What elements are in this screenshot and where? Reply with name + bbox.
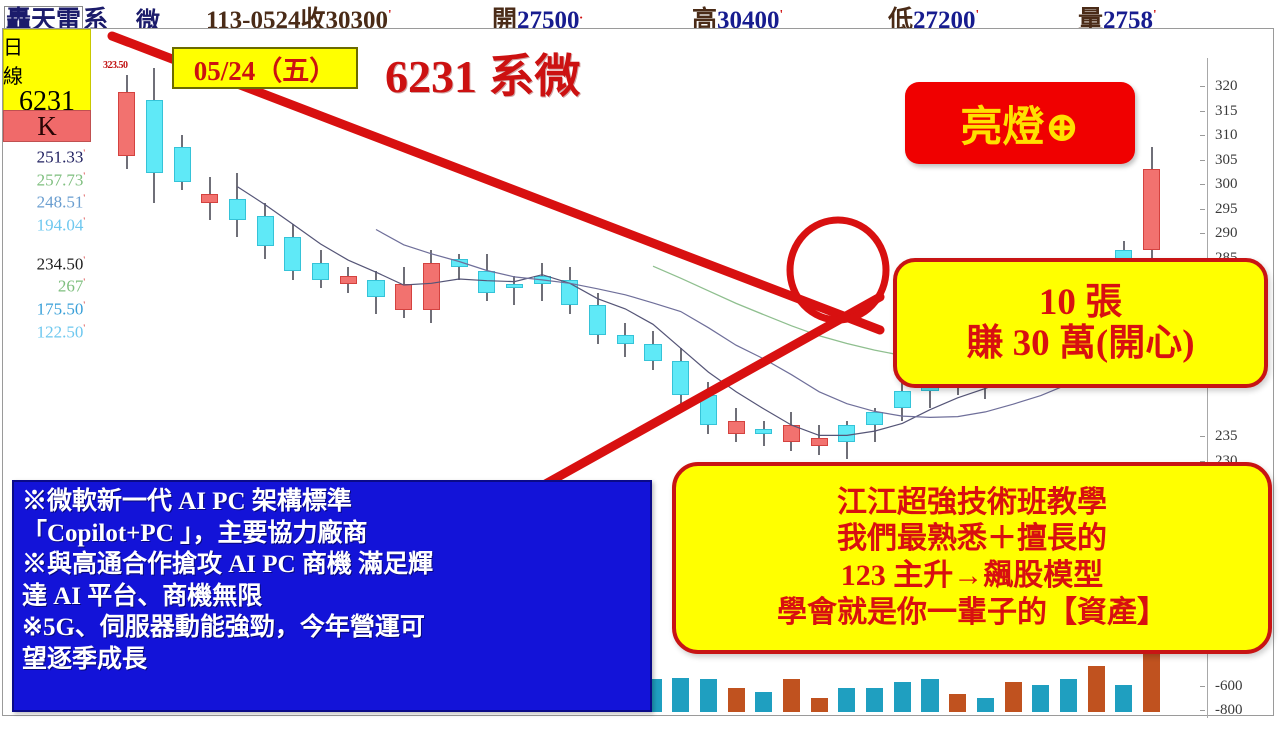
- price-tick-mark: [1200, 209, 1205, 210]
- candlestick: [312, 58, 329, 518]
- candlestick: [672, 58, 689, 518]
- candle-body: [894, 391, 911, 408]
- price-tick: 235: [1215, 430, 1238, 442]
- uptick-marker: ': [388, 7, 392, 22]
- volume-bar: [949, 694, 966, 712]
- candlestick: [395, 58, 412, 518]
- class-promo-line: 學會就是你一輩子的【資產】: [777, 595, 1167, 632]
- candlestick: [838, 58, 855, 518]
- candlestick: [229, 58, 246, 518]
- profit-line-2: 賺 30 萬(開心): [966, 323, 1194, 364]
- candlestick: [617, 58, 634, 518]
- volume-bar: [1115, 685, 1132, 712]
- volume-bar: [1005, 682, 1022, 712]
- candle-body: [700, 395, 717, 425]
- info-indicator-k[interactable]: K: [3, 110, 91, 142]
- high-price-label: 323.50: [103, 60, 128, 71]
- news-line: 望逐季成長: [22, 644, 640, 676]
- volume-bar: [1088, 666, 1105, 712]
- candle-body: [617, 335, 634, 344]
- class-promo-line: 123 主升→飆股模型: [841, 558, 1104, 595]
- candlestick: [367, 58, 384, 518]
- class-promo-callout[interactable]: 江江超強技術班教學我們最熟悉＋擅長的123 主升→飆股模型學會就是你一輩子的【資…: [672, 462, 1272, 654]
- price-tick-mark: [1200, 184, 1205, 185]
- candle-body: [728, 421, 745, 434]
- news-line: ※5G、伺服器動能強勁，今年營運可: [22, 612, 640, 644]
- volume-tick-mark: [1200, 710, 1205, 711]
- price-tick-mark: [1200, 436, 1205, 437]
- candle-body: [672, 361, 689, 395]
- candle-wick: [513, 276, 515, 306]
- page-title: 6231 系微: [385, 40, 581, 106]
- volume-bar: [894, 682, 911, 712]
- date-badge[interactable]: 05/24（五）: [172, 47, 358, 89]
- candlestick: [284, 58, 301, 518]
- candle-body: [229, 199, 246, 220]
- candle-body: [451, 259, 468, 268]
- ma-value: 248.51': [3, 189, 93, 212]
- candle-body: [257, 216, 274, 246]
- low-tick-marker: ': [976, 7, 980, 22]
- candle-body: [478, 271, 495, 292]
- candle-body: [534, 276, 551, 285]
- candle-body: [1143, 169, 1160, 250]
- candlestick: [174, 58, 191, 518]
- profit-line-1: 10 張: [1039, 282, 1122, 323]
- profit-callout[interactable]: 10 張 賺 30 萬(開心): [893, 258, 1268, 388]
- ma-value: 251.33': [3, 144, 93, 167]
- candlestick: [783, 58, 800, 518]
- ma-value: 257.73': [3, 167, 93, 190]
- candlestick: [340, 58, 357, 518]
- candlestick: [534, 58, 551, 518]
- price-tick-mark: [1200, 111, 1205, 112]
- quote-bar: 轟天雷系 微 113-0524收30300' 開27500. 高30400' 低…: [0, 0, 1280, 28]
- price-tick: 300: [1215, 178, 1238, 190]
- candle-body: [312, 263, 329, 280]
- candle-body: [201, 194, 218, 203]
- price-tick-mark: [1200, 135, 1205, 136]
- candle-wick: [763, 421, 765, 447]
- open-tick-marker: .: [580, 7, 583, 22]
- ma-value: 122.50': [3, 319, 93, 342]
- candle-body: [644, 344, 661, 361]
- volume-bar: [1060, 679, 1077, 712]
- light-badge[interactable]: 亮燈⊕: [905, 82, 1135, 164]
- candle-body: [284, 237, 301, 271]
- volume-bar: [755, 692, 772, 712]
- class-promo-line: 我們最熟悉＋擅長的: [837, 521, 1107, 558]
- candlestick: [728, 58, 745, 518]
- price-tick: 315: [1215, 105, 1238, 117]
- ma-value-list: 251.33'257.73'248.51'194.04'234.50'267'1…: [3, 144, 93, 341]
- ma-value: 175.50': [3, 296, 93, 319]
- news-line: ※與高通合作搶攻 AI PC 商機 滿足輝: [22, 549, 640, 581]
- news-line: ※微軟新一代 AI PC 架構標準: [22, 486, 640, 518]
- candlestick: [700, 58, 717, 518]
- news-line: 「Copilot+PC 」，主要協力廠商: [22, 518, 640, 550]
- candlestick: [146, 58, 163, 518]
- price-tick: 305: [1215, 154, 1238, 166]
- candlestick: [755, 58, 772, 518]
- candlestick: [506, 58, 523, 518]
- news-line: 達 AI 平台、商機無限: [22, 581, 640, 613]
- candle-body: [589, 305, 606, 335]
- candlestick: [478, 58, 495, 518]
- price-tick: 290: [1215, 227, 1238, 239]
- candle-body: [506, 284, 523, 288]
- candlestick: [423, 58, 440, 518]
- candle-body: [395, 284, 412, 310]
- price-tick-mark: [1200, 160, 1205, 161]
- volume-tick-marker: ': [1153, 7, 1157, 22]
- volume-bar: [728, 688, 745, 712]
- ma-value: 234.50': [3, 251, 93, 274]
- ma-value: 267': [3, 273, 93, 296]
- price-tick: 310: [1215, 129, 1238, 141]
- volume-bar: [977, 698, 994, 712]
- candle-body: [783, 425, 800, 442]
- volume-bar: [921, 679, 938, 712]
- candle-body: [174, 147, 191, 181]
- candle-body: [423, 263, 440, 310]
- candlestick: [866, 58, 883, 518]
- ma-group-separator: [3, 235, 93, 251]
- price-tick-mark: [1200, 233, 1205, 234]
- candle-body: [811, 438, 828, 447]
- volume-bar: [783, 679, 800, 712]
- volume-tick: -800: [1215, 704, 1243, 716]
- candlestick: [257, 58, 274, 518]
- volume-bar: [700, 679, 717, 712]
- candle-body: [146, 100, 163, 173]
- high-tick-marker: ': [780, 7, 784, 22]
- price-tick: 295: [1215, 203, 1238, 215]
- volume-bar: [838, 688, 855, 712]
- candlestick: [589, 58, 606, 518]
- volume-tick: -600: [1215, 680, 1243, 692]
- candle-body: [118, 92, 135, 156]
- volume-bar: [811, 698, 828, 712]
- candlestick: [811, 58, 828, 518]
- volume-bar: [1032, 685, 1049, 712]
- candlestick: [644, 58, 661, 518]
- class-promo-line: 江江超強技術班教學: [837, 485, 1107, 522]
- candlestick: [451, 58, 468, 518]
- volume-bar: [866, 688, 883, 712]
- candle-body: [866, 412, 883, 425]
- candlestick: [118, 58, 135, 518]
- candle-body: [838, 425, 855, 442]
- price-tick-mark: [1200, 86, 1205, 87]
- candle-body: [561, 280, 578, 306]
- volume-bar: [672, 678, 689, 712]
- candlestick: [561, 58, 578, 518]
- ma-value: 194.04': [3, 212, 93, 235]
- news-callout[interactable]: ※微軟新一代 AI PC 架構標準「Copilot+PC 」，主要協力廠商※與高…: [12, 480, 652, 712]
- candlestick: [201, 58, 218, 518]
- info-period: 日 線: [0, 31, 105, 89]
- volume-tick-mark: [1200, 686, 1205, 687]
- candle-body: [340, 276, 357, 285]
- price-tick: 320: [1215, 80, 1238, 92]
- candle-body: [367, 280, 384, 297]
- candle-body: [755, 429, 772, 433]
